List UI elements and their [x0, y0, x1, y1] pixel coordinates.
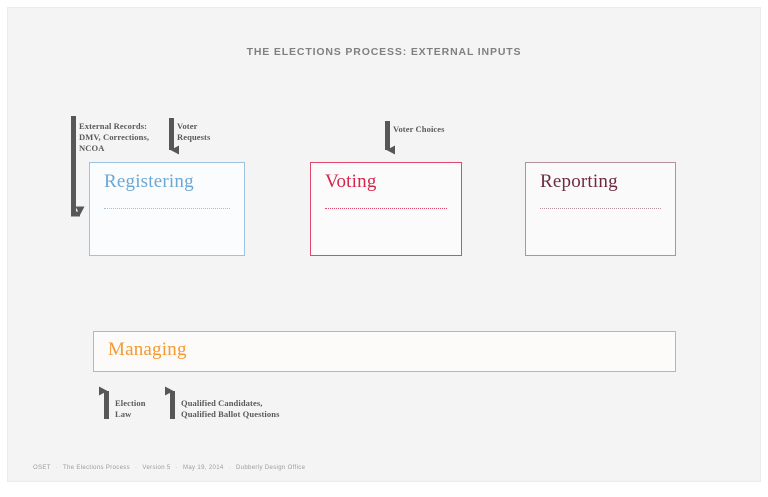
footer-separator-2: · — [132, 465, 140, 471]
slide: THE ELECTIONS PROCESS: EXTERNAL INPUTS — [0, 0, 768, 497]
stage-divider-reporting — [540, 208, 661, 209]
stage-label-registering: Registering — [104, 171, 194, 193]
stage-box-registering[interactable]: Registering — [89, 162, 245, 256]
footer-project: The Elections Process — [63, 465, 130, 471]
footer-separator-3: · — [173, 465, 181, 471]
slide-canvas: THE ELECTIONS PROCESS: EXTERNAL INPUTS — [8, 8, 760, 481]
stage-box-managing[interactable]: Managing — [93, 331, 676, 372]
stage-box-reporting[interactable]: Reporting — [525, 162, 676, 256]
annotation-external-records: External Records: DMV, Corrections, NCOA — [79, 121, 149, 154]
annotation-voter-choices: Voter Choices — [393, 124, 445, 135]
footer-version: Version 5 — [142, 465, 170, 471]
stage-divider-registering — [104, 208, 230, 209]
stage-label-voting: Voting — [325, 171, 377, 193]
footer-separator-4: · — [226, 465, 234, 471]
annotation-election-law: Election Law — [115, 398, 146, 420]
footer-org: OSET — [33, 465, 51, 471]
stage-box-voting[interactable]: Voting — [310, 162, 462, 256]
stage-label-reporting: Reporting — [540, 171, 618, 193]
annotation-qualified-candidates: Qualified Candidates, Qualified Ballot Q… — [181, 398, 279, 420]
annotation-voter-requests: Voter Requests — [177, 121, 210, 143]
footer-date: May 19, 2014 — [183, 465, 224, 471]
footer-separator-1: · — [53, 465, 61, 471]
page-title: THE ELECTIONS PROCESS: EXTERNAL INPUTS — [8, 46, 760, 58]
footer: OSET · The Elections Process · Version 5… — [33, 465, 305, 471]
stage-label-managing: Managing — [108, 339, 187, 361]
footer-author: Dubberly Design Office — [236, 465, 305, 471]
stage-divider-voting — [325, 208, 447, 209]
